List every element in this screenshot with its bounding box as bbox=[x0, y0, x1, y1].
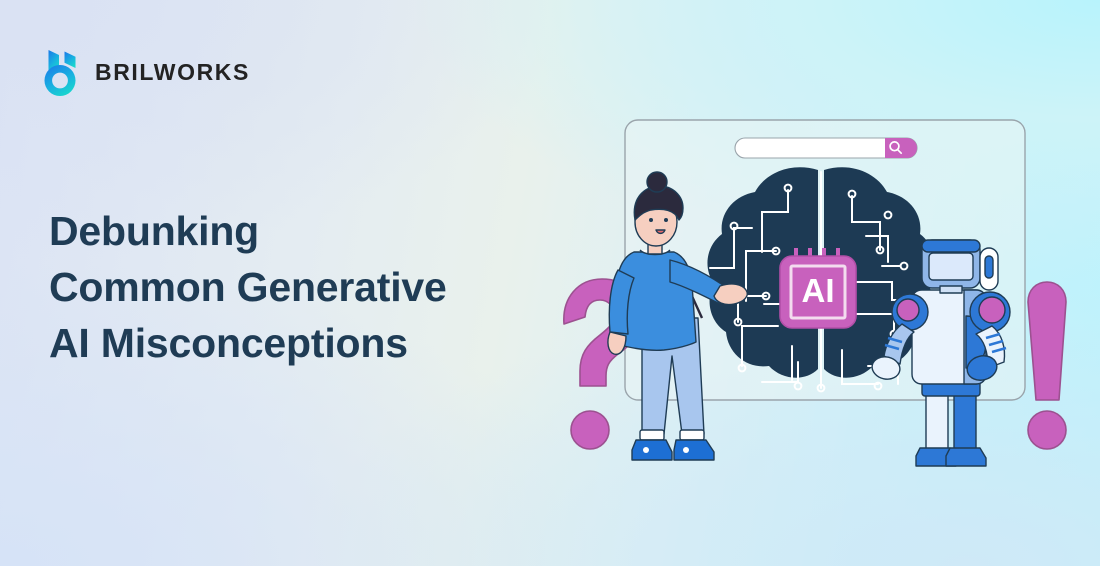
banner-canvas: BRILWORKS Debunking Common Generative AI… bbox=[0, 0, 1100, 566]
headline-line-2: Common Generative bbox=[49, 259, 447, 315]
brand-wordmark: BRILWORKS bbox=[95, 61, 250, 84]
brilworks-b-logo-icon bbox=[44, 46, 82, 99]
chip-label: AI bbox=[802, 272, 835, 309]
headline-line-1: Debunking bbox=[49, 203, 447, 259]
brand-logo[interactable]: BRILWORKS bbox=[44, 46, 250, 99]
headline-line-3: AI Misconceptions bbox=[49, 315, 447, 371]
exclamation-mark-symbol bbox=[1028, 282, 1066, 449]
search-bar bbox=[735, 138, 917, 158]
page-title: Debunking Common Generative AI Misconcep… bbox=[49, 203, 447, 371]
ai-chip-badge: AI bbox=[780, 248, 856, 328]
generative-ai-concept-illustration: AI bbox=[530, 100, 1100, 500]
